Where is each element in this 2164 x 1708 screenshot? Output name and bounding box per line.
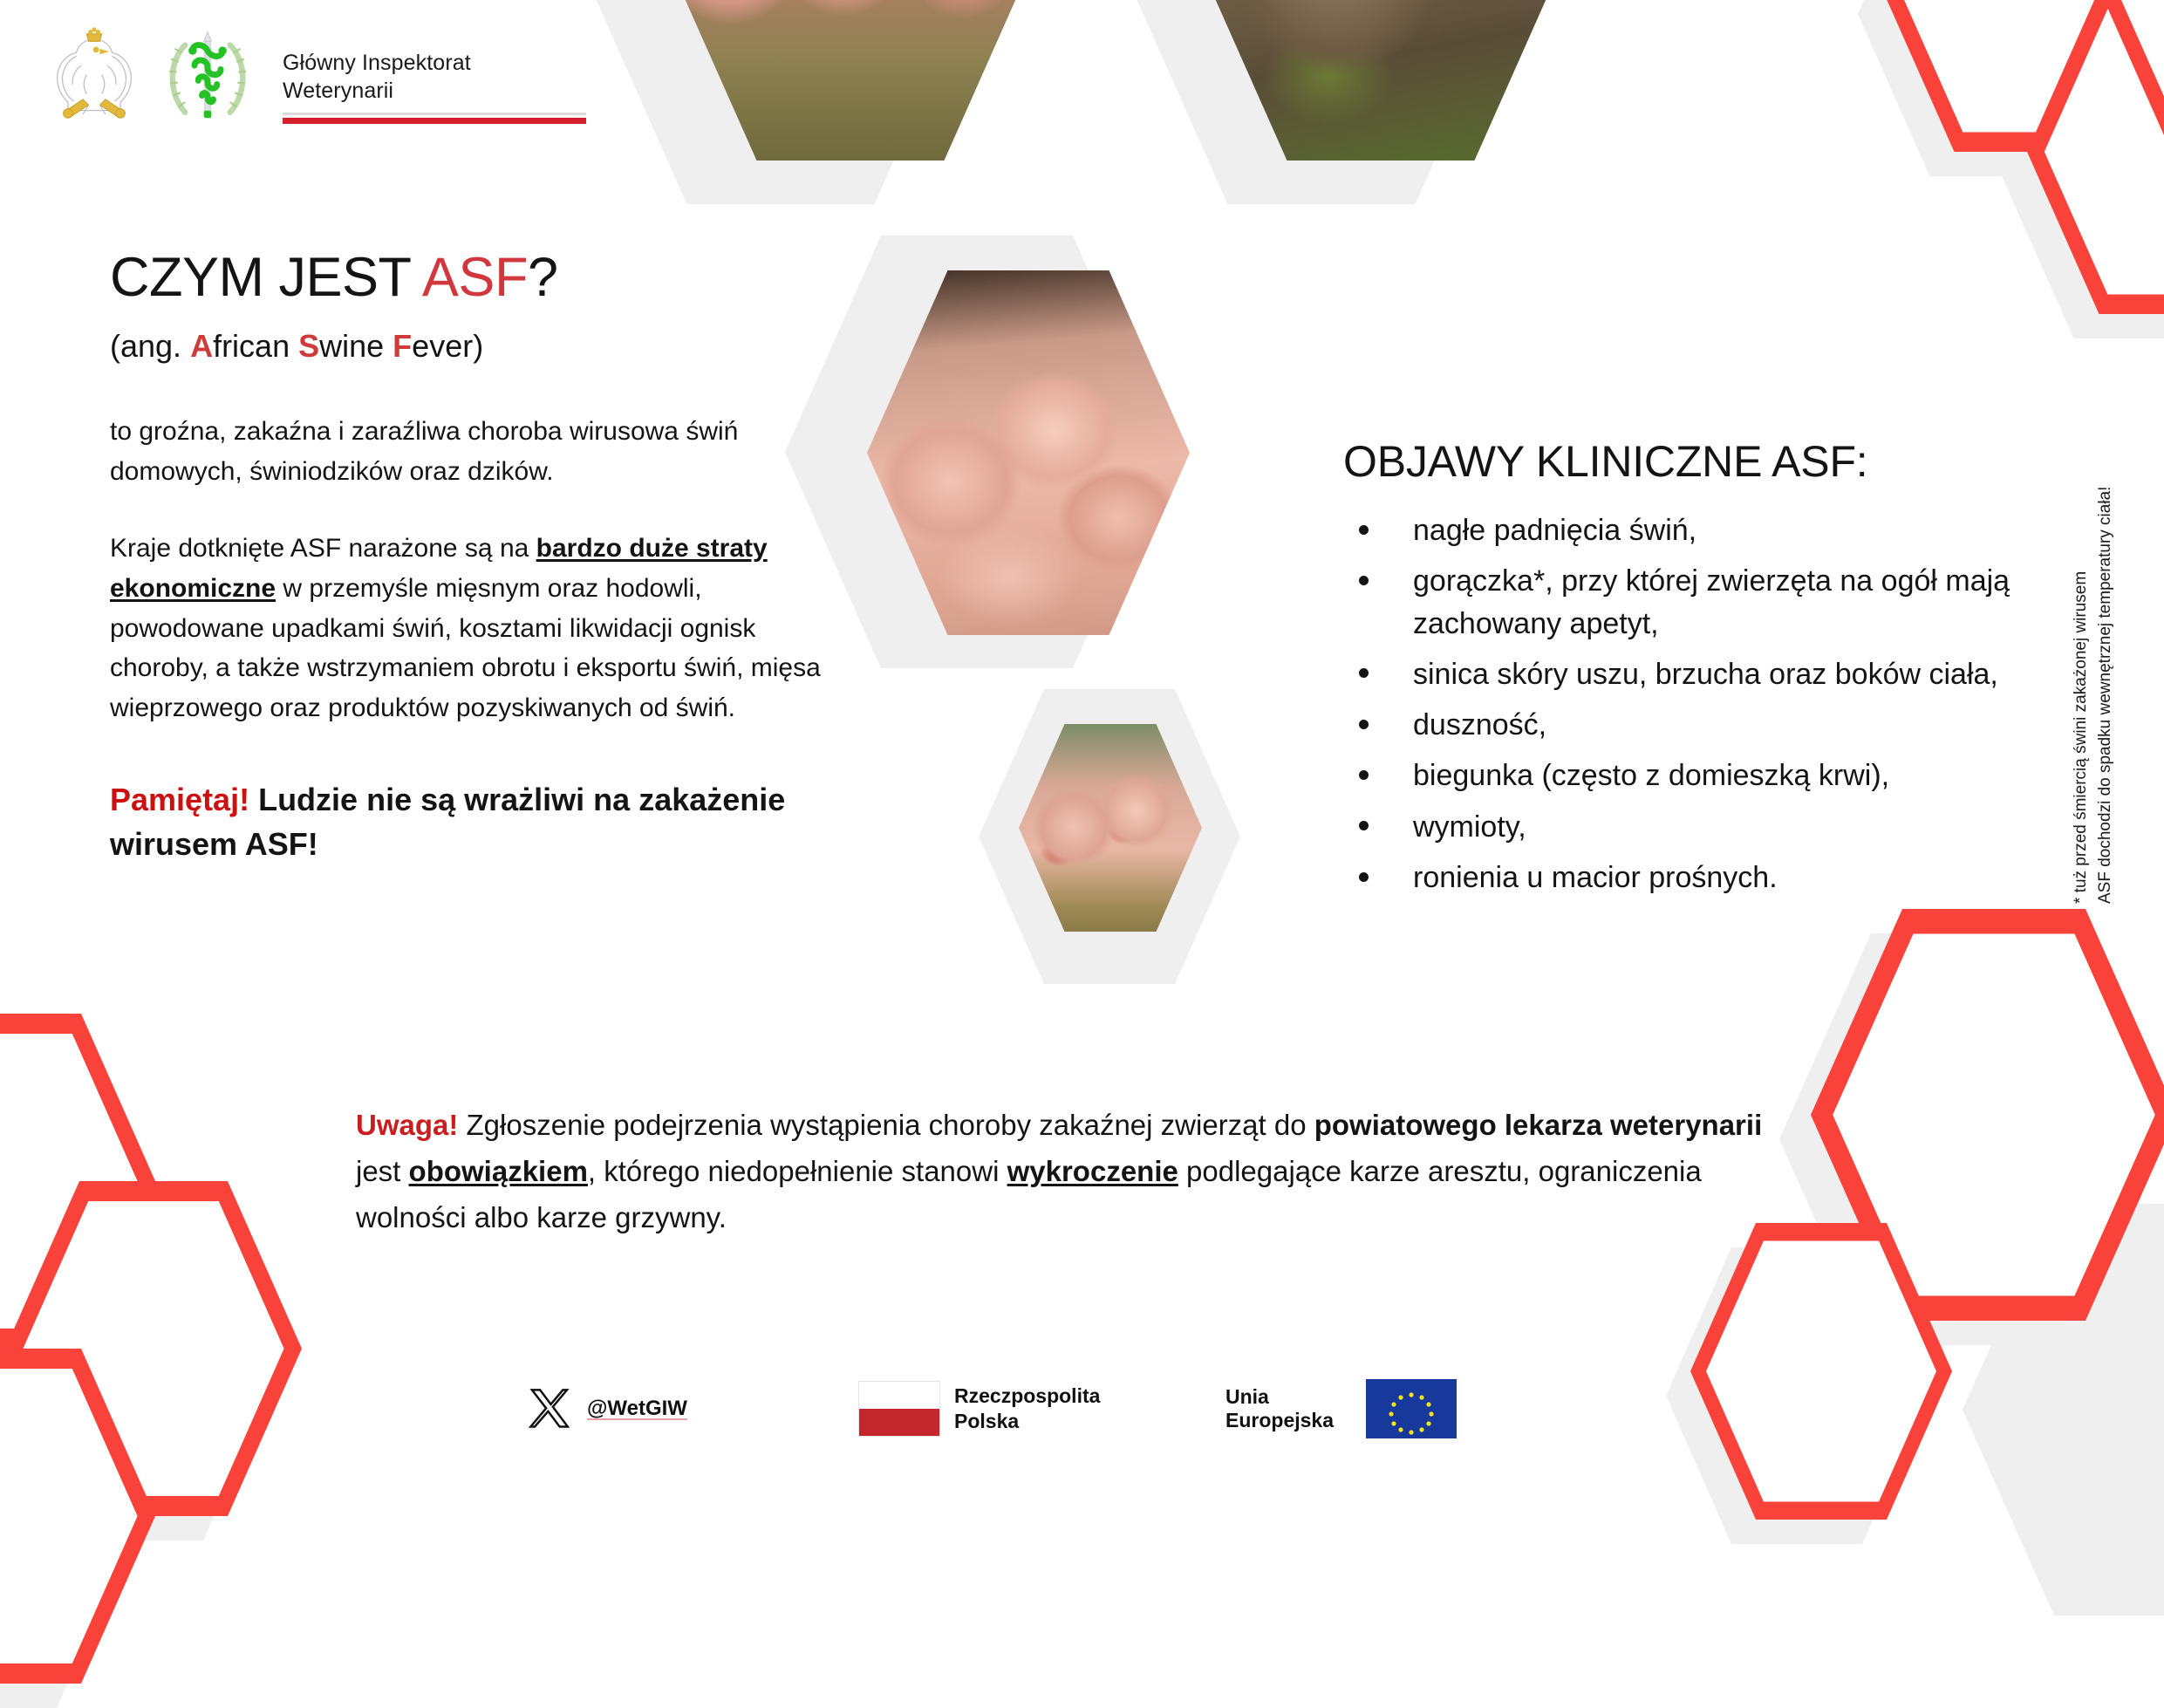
notice-text-2: jest: [356, 1155, 409, 1187]
footnote-line-1: * tuż przed śmiercią świni zakażonej wir…: [2069, 363, 2093, 904]
subtitle-letter-s: S: [298, 328, 319, 364]
footer-bar: @WetGIW Rzeczpospolita Polska Unia Europ…: [488, 1361, 1457, 1457]
brand-line-2: Weterynarii: [283, 77, 586, 105]
notice-text-1: Zgłoszenie podejrzenia wystąpienia choro…: [458, 1109, 1314, 1141]
title-before: CZYM JEST: [110, 247, 422, 308]
bullet-dot-icon: [1359, 668, 1369, 678]
poland-line-1: Rzeczpospolita: [954, 1383, 1100, 1409]
piglets-feeding-photo: [1019, 724, 1202, 932]
piglets-in-pen-photo: [867, 270, 1190, 635]
subtitle-open: (ang.: [110, 328, 190, 364]
symptom-text: ronienia u macior prośnych.: [1413, 861, 1778, 894]
bullet-dot-icon: [1359, 525, 1369, 535]
polish-eagle-emblem-icon: [45, 24, 143, 127]
list-item: ronienia u macior prośnych.: [1343, 857, 2067, 898]
title-accent: ASF: [422, 247, 528, 308]
list-item: duszność,: [1343, 704, 2067, 746]
notice-underline-obligation: obowiązkiem: [409, 1155, 588, 1187]
x-social-group[interactable]: @WetGIW: [528, 1385, 687, 1432]
subtitle-ever: ever): [412, 328, 483, 364]
decoration-bottom-left: [0, 1003, 375, 1614]
subtitle-letter-f: F: [393, 328, 412, 364]
list-item: sinica skóry uszu, brzucha oraz boków ci…: [1343, 653, 2067, 695]
bullet-dot-icon: [1359, 770, 1369, 780]
remember-callout: Pamiętaj! Ludzie nie są wrażliwi na zaka…: [110, 777, 825, 866]
subtitle-frican: frican: [213, 328, 298, 364]
symptoms-heading: OBJAWY KLINICZNE ASF:: [1343, 436, 2067, 487]
page-title: CZYM JEST ASF?: [110, 246, 825, 309]
poland-group: Rzeczpospolita Polska: [858, 1381, 1100, 1437]
brand-name: Główny Inspektorat Weterynarii: [283, 24, 586, 124]
symptoms-list: nagłe padnięcia świń, gorączka*, przy kt…: [1343, 509, 2067, 898]
intro-paragraph: to groźna, zakaźna i zaraźliwa choroba w…: [110, 412, 825, 492]
poster-canvas: Główny Inspektorat Weterynarii CZYM JEST…: [0, 0, 2164, 1525]
poland-flag-icon: [858, 1381, 940, 1437]
x-handle-label: @WetGIW: [587, 1397, 687, 1421]
brand-logo-bar: Główny Inspektorat Weterynarii: [45, 24, 586, 127]
poland-label: Rzeczpospolita Polska: [954, 1383, 1100, 1434]
right-content-column: OBJAWY KLINICZNE ASF: nagłe padnięcia św…: [1343, 436, 2067, 907]
brand-rule: [283, 113, 586, 124]
symptom-text: wymioty,: [1413, 810, 1526, 844]
eu-group: Unia Europejska: [1225, 1379, 1457, 1438]
decoration-bottom-right: [1710, 916, 2164, 1544]
symptom-text: nagłe padnięcia świń,: [1413, 514, 1696, 547]
subtitle-letter-a: A: [190, 328, 213, 364]
economic-loss-paragraph: Kraje dotknięte ASF narażone są na bardz…: [110, 529, 825, 728]
symptom-text: duszność,: [1413, 708, 1546, 741]
symptom-text: biegunka (często z domieszką krwi),: [1413, 759, 1889, 792]
footnote-line-2: ASF dochodzi do spadku wewnętrznej tempe…: [2093, 363, 2118, 904]
x-twitter-logo-icon: [528, 1385, 575, 1432]
symptom-text: gorączka*, przy której zwierzęta na ogół…: [1413, 564, 2010, 639]
economic-text-lead: Kraje dotknięte ASF narażone są na: [110, 534, 536, 563]
eu-label: Unia Europejska: [1225, 1385, 1350, 1432]
bullet-dot-icon: [1359, 576, 1369, 585]
legal-notice: Uwaga! Zgłoszenie podejrzenia wystąpieni…: [356, 1103, 1769, 1240]
veterinary-caduceus-wreath-icon: [159, 24, 256, 127]
notice-text-3: , którego niedopełnienie stanowi: [588, 1155, 1007, 1187]
notice-bold-authority: powiatowego lekarza weterynarii: [1314, 1109, 1763, 1141]
domestic-pigs-photo: [663, 0, 1038, 161]
list-item: wymioty,: [1343, 806, 2067, 848]
bullet-dot-icon: [1359, 821, 1369, 830]
list-item: nagłe padnięcia świń,: [1343, 509, 2067, 551]
bullet-dot-icon: [1359, 872, 1369, 882]
list-item: biegunka (często z domieszką krwi),: [1343, 755, 2067, 796]
brand-line-1: Główny Inspektorat: [283, 49, 586, 77]
fever-footnote: * tuż przed śmiercią świni zakażonej wir…: [2069, 0, 2118, 363]
page-subtitle: (ang. African Swine Fever): [110, 328, 825, 365]
subtitle-wine: wine: [319, 328, 393, 364]
bullet-dot-icon: [1359, 720, 1369, 729]
european-union-flag-icon: [1366, 1379, 1457, 1438]
title-after: ?: [528, 247, 558, 308]
symptom-text: sinica skóry uszu, brzucha oraz boków ci…: [1413, 658, 1998, 691]
left-content-column: CZYM JEST ASF? (ang. African Swine Fever…: [110, 246, 825, 866]
notice-label: Uwaga!: [356, 1109, 458, 1141]
notice-underline-offence: wykroczenie: [1007, 1155, 1178, 1187]
remember-label: Pamiętaj!: [110, 782, 249, 817]
wild-boars-photo: [1193, 0, 1568, 161]
poland-line-2: Polska: [954, 1409, 1100, 1434]
list-item: gorączka*, przy której zwierzęta na ogół…: [1343, 560, 2067, 645]
